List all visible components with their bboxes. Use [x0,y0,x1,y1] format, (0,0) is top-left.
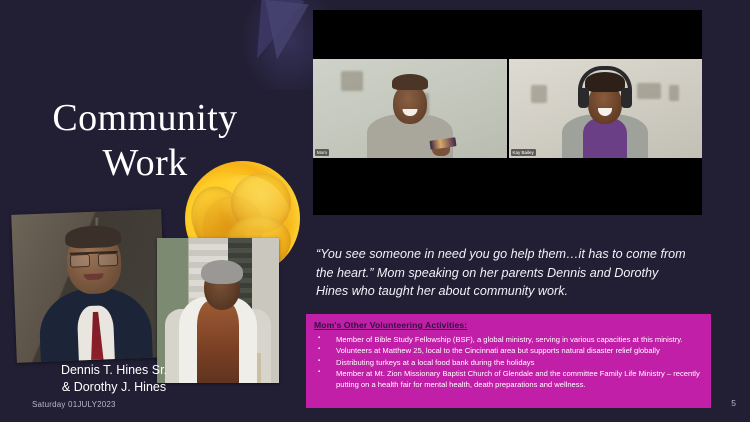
video-tile-kay-bailey: Kay Bailey [509,59,703,158]
hair-shape [201,260,243,284]
video-tile-grid: Mom Kay Bailey [313,59,702,158]
footer-date: Saturday 01JULY2023 [32,400,116,409]
headset-earcup [578,88,589,108]
list-item: Member of Bible Study Fellowship (BSF), … [312,335,705,346]
hair-shape [65,225,122,249]
presentation-slide: Community Work Dennis T. Hines Sr. & Dor… [0,0,750,422]
video-call-screenshot: Mom Kay Bailey [313,10,702,215]
volunteering-activities-box: Mom's Other Volunteering Activities: Mem… [306,314,711,408]
list-item: Volunteers at Matthew 25, local to the C… [312,346,705,357]
activities-heading: Mom's Other Volunteering Activities: [314,320,705,330]
hair-shape [392,74,428,90]
wall-picture [531,85,547,103]
photo-caption: Dennis T. Hines Sr. & Dorothy J. Hines [24,362,204,396]
title-line-1: Community [52,97,237,139]
caption-line-2: & Dorothy J. Hines [24,379,204,396]
caption-line-1: Dennis T. Hines Sr. [24,362,204,379]
glasses-icon [70,251,118,266]
participant-name-label: Mom [315,149,329,156]
face-shape [393,84,427,124]
wall-picture [637,83,661,99]
participant-name-label: Kay Bailey [511,149,536,156]
wall-picture [669,85,679,101]
shirt-shape [583,118,627,158]
slide-number: 5 [731,398,736,408]
activities-list: Member of Bible Study Fellowship (BSF), … [312,335,705,390]
list-item: Member at Mt. Zion Missionary Baptist Ch… [312,369,705,391]
video-tile-mom: Mom [313,59,507,158]
photo-dennis-hines [11,209,167,363]
list-item: Distributing turkeys at a local food ban… [312,358,705,369]
wall-picture [341,71,363,91]
headset-earcup [621,88,632,108]
decorative-cone-secondary-icon [259,0,309,62]
quote-text: “You see someone in need you go help the… [316,245,692,301]
